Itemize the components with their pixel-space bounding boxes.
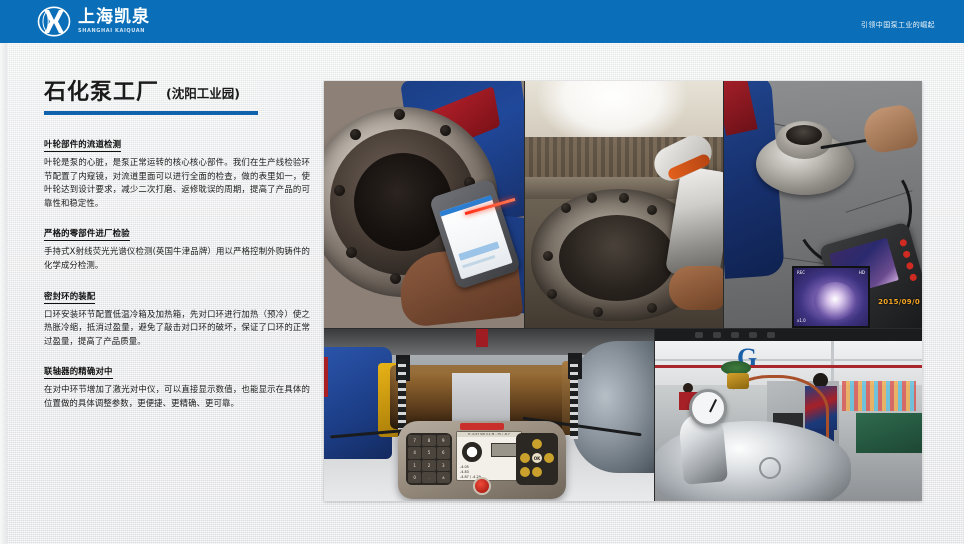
flange-bolt-hole (440, 125, 451, 136)
alignment-target-icon (462, 442, 482, 462)
section-heading: 密封环的装配 (44, 290, 95, 304)
pump-casing-bore (559, 215, 675, 301)
section-body: 口环安装环节配置低温冷箱及加热箱，先对口环进行加热（预冷）使之热胀冷缩，抵消过盈… (44, 308, 310, 349)
flange-bolt-hole (390, 273, 401, 284)
brand-name-cn: 上海凯泉 (78, 9, 150, 26)
nav-up-button[interactable] (532, 439, 542, 449)
back-button[interactable] (520, 467, 530, 477)
photo-collage: 2015/09/0 REC HD x1.0 7 8 9 4 (324, 81, 922, 501)
device-nav-pad[interactable]: OK (516, 433, 558, 485)
casing-bolt-hole (587, 193, 597, 203)
band-marker (695, 332, 703, 338)
nav-down-button[interactable] (532, 467, 542, 477)
impeller-bore (786, 125, 822, 145)
page-title-sub: (沈阳工业园) (166, 83, 240, 104)
casing-bolt-hole (543, 251, 553, 261)
machine-diagram-icon (491, 443, 517, 457)
brand-name-en: SHANGHAI KAIQUAN (78, 29, 150, 34)
ceiling-beam (655, 359, 922, 361)
photo-flange-inspection (324, 81, 524, 328)
osd-label: HD (859, 270, 865, 275)
flange-bolt-hole (334, 185, 345, 196)
borescope-button[interactable] (899, 238, 908, 247)
kaiquan-logo-icon (37, 6, 71, 37)
flange-bolt-hole (394, 109, 405, 120)
band-marker (767, 332, 775, 338)
flow-passage-view (814, 282, 856, 320)
keypad-key[interactable]: . (422, 472, 435, 483)
keypad-key[interactable]: 2 (422, 460, 435, 471)
power-button[interactable] (473, 477, 491, 495)
borescope-button[interactable] (906, 262, 915, 271)
photo-xrf-spectrometer (525, 81, 723, 328)
top-header-bar: 上海凯泉 SHANGHAI KAIQUAN 引领中国泵工业的崛起 (0, 0, 964, 43)
photo-borescope-screen: REC HD x1.0 (792, 266, 870, 328)
casing-bolt-hole (547, 289, 557, 299)
casing-bolt-hole (561, 203, 571, 213)
vessel-handle-ring (759, 457, 781, 479)
operator-hand (669, 266, 723, 310)
motor-accent (324, 357, 328, 397)
borescope-button[interactable] (909, 273, 918, 282)
keypad-key[interactable]: 5 (422, 447, 435, 458)
osd-label: x1.0 (797, 318, 806, 323)
coupling-gap (452, 373, 510, 421)
band-marker (713, 332, 721, 338)
casing-bolt-hole (619, 193, 629, 203)
keypad-key[interactable]: 6 (437, 447, 450, 458)
nav-right-button[interactable] (544, 453, 554, 463)
section-coupling-alignment: 联轴器的精确对中 在对中环节增加了激光对中仪，可以直接显示数值，也能显示在具体的… (44, 359, 310, 410)
keypad-key[interactable]: 7 (408, 435, 421, 446)
borescope-button[interactable] (902, 250, 911, 259)
casing-bolt-hole (647, 303, 657, 313)
left-content-column: 石化泵工厂 (沈阳工业园) 叶轮部件的流道检测 叶轮是泵的心脏，是泵正常运转的核… (44, 82, 310, 422)
ok-button[interactable]: OK (532, 453, 542, 463)
flange-bolt-hole (346, 247, 357, 258)
brand-logo[interactable]: 上海凯泉 SHANGHAI KAIQUAN (37, 6, 150, 37)
device-keypad[interactable]: 7 8 9 4 5 6 1 2 3 0 . ± (406, 433, 452, 485)
photo-workshop-heating: G (655, 329, 922, 501)
keypad-key[interactable]: 1 (408, 460, 421, 471)
section-body: 手持式X射线荧光光谱仪检测(英国牛津品牌）用以严格控制外购铸件的化学成分检测。 (44, 245, 310, 272)
casing-bolt-hole (647, 205, 657, 215)
keypad-key[interactable]: 0 (408, 472, 421, 483)
keypad-key[interactable]: 8 (422, 435, 435, 446)
band-marker (749, 332, 757, 338)
section-incoming-parts-inspection: 严格的零部件进厂检验 手持式X射线荧光光谱仪检测(英国牛津品牌）用以严格控制外购… (44, 221, 310, 272)
body-sections-list: 叶轮部件的流道检测 叶轮是泵的心脏，是泵正常运转的核心核心部件。我们在生产线检验… (44, 132, 310, 411)
slide-left-edge (0, 43, 7, 544)
page-title-main: 石化泵工厂 (44, 82, 159, 104)
photo-timestamp: 2015/09/0 (878, 298, 920, 306)
section-body: 叶轮是泵的心脏，是泵正常运转的核心核心部件。我们在生产线检验环节配置了内窥镜，对… (44, 156, 310, 210)
green-partition-board (856, 413, 922, 453)
device-brand-strip (460, 423, 504, 430)
red-pipe (476, 329, 488, 347)
section-heading: 叶轮部件的流道检测 (44, 138, 121, 152)
pump-housing (572, 341, 654, 473)
section-heading: 严格的零部件进厂检验 (44, 227, 130, 241)
section-seal-ring-assembly: 密封环的装配 口环安装环节配置低温冷箱及加热箱，先对口环进行加热（预冷）使之热胀… (44, 284, 310, 349)
header-slogan: 引领中国泵工业的崛起 (861, 20, 935, 30)
keypad-key[interactable]: ± (437, 472, 450, 483)
page-title: 石化泵工厂 (沈阳工业园) (44, 82, 310, 104)
band-marker (731, 332, 739, 338)
device-screen: H -0.07 SW 3.1 M -.75 / -8.7 -4.05 -4.83… (456, 431, 522, 481)
keypad-key[interactable]: 9 (437, 435, 450, 446)
brass-valve (727, 373, 749, 389)
flange-bolt-hole (350, 129, 361, 140)
section-impeller-flow-inspection: 叶轮部件的流道检测 叶轮是泵的心脏，是泵正常运转的核心核心部件。我们在生产线检验… (44, 132, 310, 210)
keypad-key[interactable]: 4 (408, 447, 421, 458)
pressure-gauge (689, 389, 727, 427)
nav-left-button[interactable] (520, 453, 530, 463)
screen-status-bar: H -0.07 SW 3.1 M -.75 / -8.7 (457, 432, 521, 437)
section-body: 在对中环节增加了激光对中仪，可以直接显示数值，也能显示在具体的位置做的具体调整参… (44, 383, 310, 410)
osd-label: REC (797, 270, 805, 275)
title-underline-rule (44, 111, 258, 115)
section-heading: 联轴器的精确对中 (44, 365, 113, 379)
photo-laser-alignment: 7 8 9 4 5 6 1 2 3 0 . ± H -0.07 SW 3.1 M… (324, 329, 654, 501)
storage-shelf (842, 381, 916, 411)
keypad-key[interactable]: 3 (437, 460, 450, 471)
casing-bolt-hole (593, 307, 603, 317)
fire-sprinkler-pipe (655, 365, 922, 368)
laser-alignment-device[interactable]: 7 8 9 4 5 6 1 2 3 0 . ± H -0.07 SW 3.1 M… (398, 421, 566, 499)
